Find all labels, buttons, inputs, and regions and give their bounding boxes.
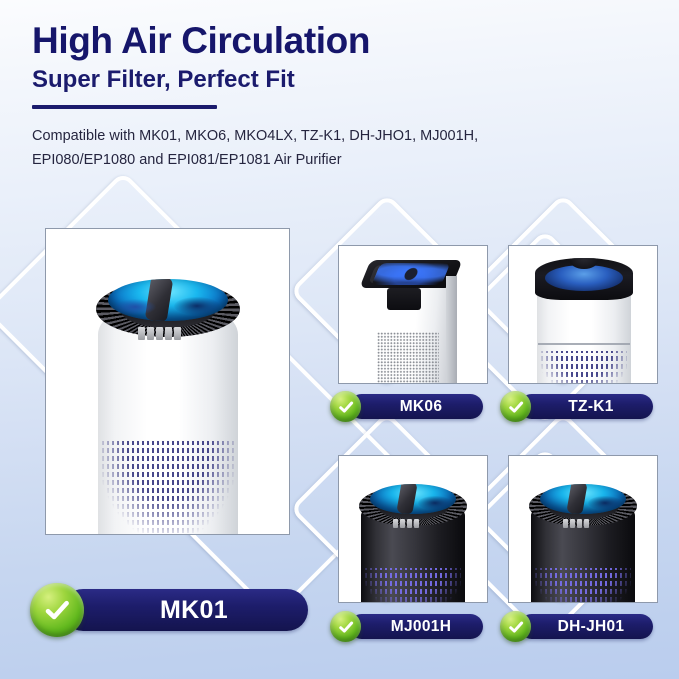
model-label-tz-k1: TZ-K1: [519, 394, 653, 419]
green-check-icon: [30, 583, 84, 637]
compatibility-text: Compatible with MK01, MKO6, MKO4LX, TZ-K…: [32, 125, 632, 172]
model-label-mj001h: MJ001H: [349, 614, 483, 639]
green-check-icon: [330, 611, 361, 642]
product-marketing-image: High Air Circulation Super Filter, Perfe…: [0, 0, 679, 679]
compatibility-line-1: Compatible with MK01, MKO6, MKO4LX, TZ-K…: [32, 125, 632, 148]
title-divider: [32, 105, 217, 109]
model-badge-mj001h: MJ001H: [330, 611, 483, 642]
product-photo-mk06: [338, 245, 488, 384]
model-badge-mk06: MK06: [330, 391, 483, 422]
header-block: High Air Circulation Super Filter, Perfe…: [32, 22, 652, 172]
model-badge-dh-jh01: DH-JH01: [500, 611, 653, 642]
air-purifier-illustration-black-round: [339, 456, 487, 602]
air-purifier-illustration-white-round: [46, 229, 289, 534]
model-label-mk01: MK01: [62, 589, 308, 631]
product-photo-mj001h: [338, 455, 488, 603]
green-check-icon: [500, 391, 531, 422]
air-purifier-illustration-white-round-blue-top: [509, 246, 657, 383]
model-badge-tz-k1: TZ-K1: [500, 391, 653, 422]
green-check-icon: [330, 391, 361, 422]
compatibility-line-2: EPI080/EP1080 and EPI081/EP1081 Air Puri…: [32, 149, 632, 172]
page-subtitle: Super Filter, Perfect Fit: [32, 67, 652, 93]
air-purifier-illustration-white-square-tower: [339, 246, 487, 383]
model-badge-mk01: MK01: [30, 583, 308, 637]
green-check-icon: [500, 611, 531, 642]
model-label-mk06: MK06: [349, 394, 483, 419]
product-photo-dh-jh01: [508, 455, 658, 603]
model-label-dh-jh01: DH-JH01: [519, 614, 653, 639]
product-photo-tz-k1: [508, 245, 658, 384]
page-title: High Air Circulation: [32, 22, 652, 61]
air-purifier-illustration-black-round: [509, 456, 657, 602]
product-photo-mk01: [45, 228, 290, 535]
